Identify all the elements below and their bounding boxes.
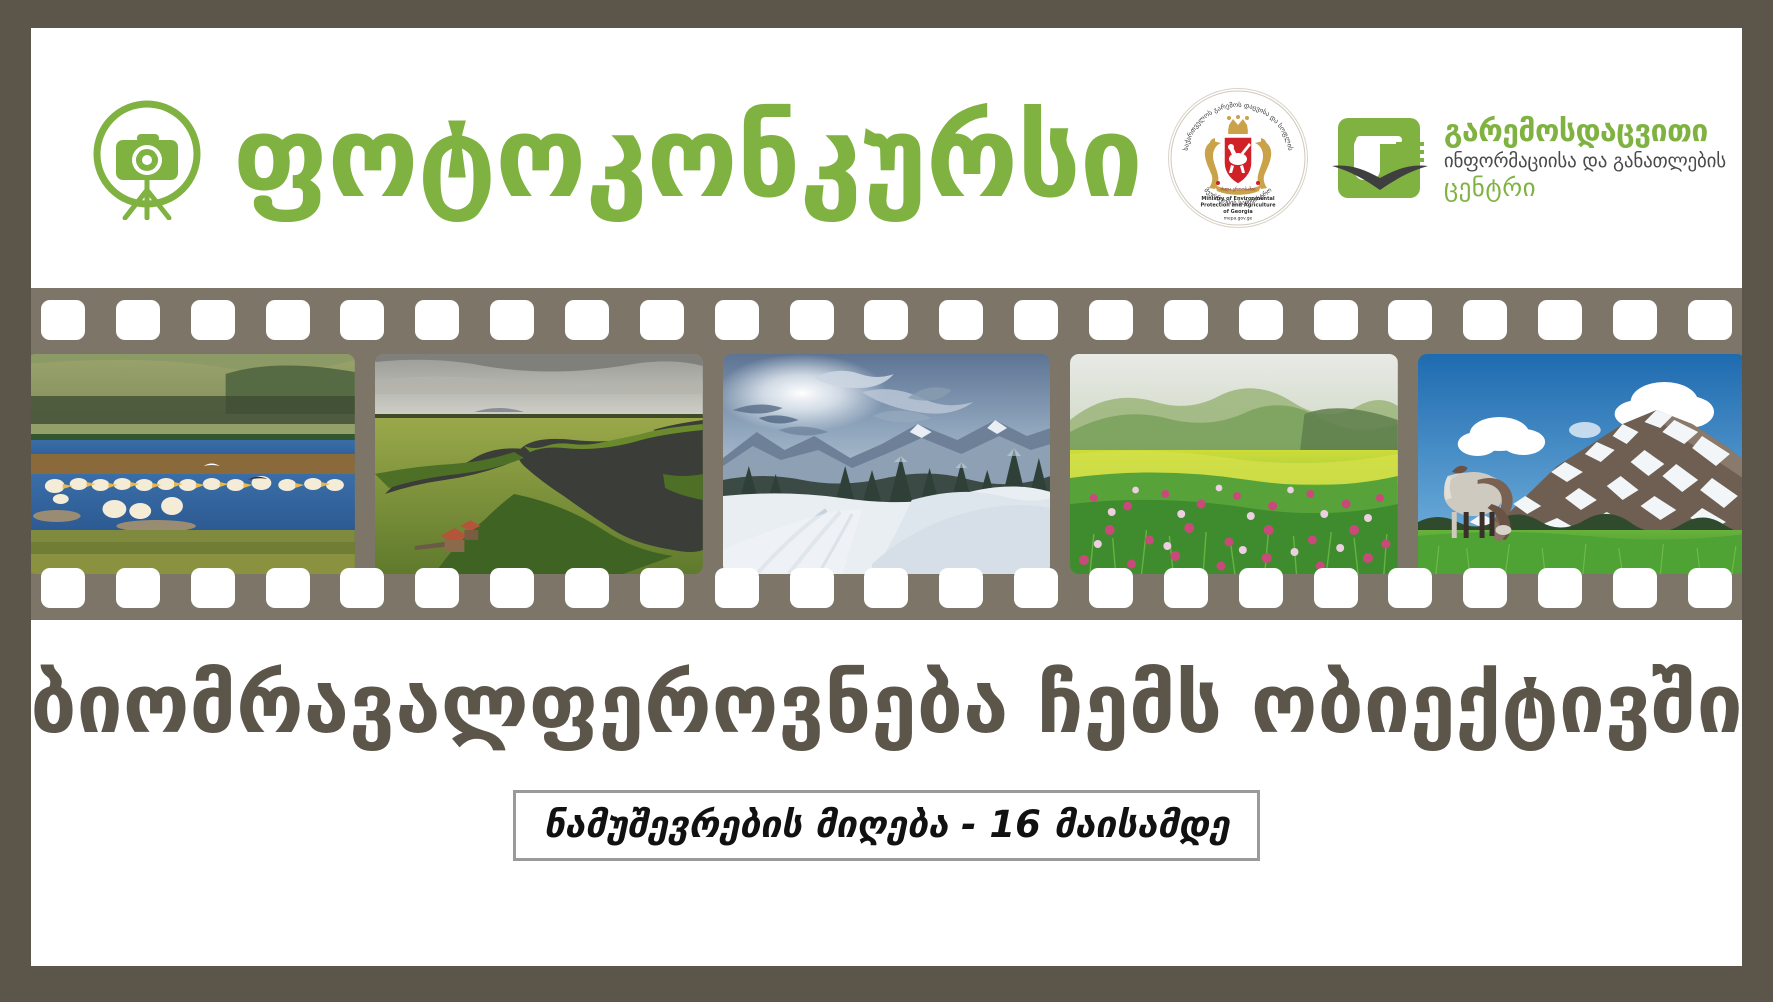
sprocket-hole: [864, 300, 908, 340]
sprocket-hole: [1014, 300, 1058, 340]
sprocket-hole: [640, 568, 684, 608]
sprocket-hole: [1688, 300, 1732, 340]
sprocket-hole: [1388, 568, 1432, 608]
sprocket-hole: [939, 568, 983, 608]
sprocket-hole: [1314, 300, 1358, 340]
svg-text:mepa.gov.ge: mepa.gov.ge: [1224, 217, 1253, 222]
sprocket-hole: [1538, 568, 1582, 608]
eic-line-3: ცენტრი: [1444, 175, 1726, 200]
eic-book-mark-icon: [1330, 106, 1434, 210]
sprocket-hole: [1613, 300, 1657, 340]
sprocket-hole: [490, 568, 534, 608]
sprocket-hole: [1164, 300, 1208, 340]
ministry-seal: საქართველოს გარემოს დაცვისა და სოფლის მე…: [1168, 88, 1308, 228]
sprocket-hole: [1239, 568, 1283, 608]
sprocket-hole: [565, 300, 609, 340]
poster-headline: ბიომრავალფეროვნება ჩემს ობიექტივში: [31, 664, 1742, 746]
sprocket-hole: [415, 300, 459, 340]
sprocket-hole: [116, 568, 160, 608]
sprocket-hole: [340, 300, 384, 340]
svg-text:Ministry of Environmental: Ministry of Environmental: [1201, 196, 1274, 202]
eic-logo-text: გარემოსდაცვითი ინფორმაციისა და განათლები…: [1444, 117, 1726, 200]
sprocket-row-top: [31, 300, 1742, 340]
logo-group: საქართველოს გარემოს დაცვისა და სოფლის მე…: [1168, 88, 1736, 228]
sprocket-hole: [1388, 300, 1432, 340]
photo-snowy-mountain-road: [723, 354, 1051, 574]
sprocket-hole: [640, 300, 684, 340]
sprocket-hole: [1089, 568, 1133, 608]
sprocket-hole: [116, 300, 160, 340]
poster-bottom: ბიომრავალფეროვნება ჩემს ობიექტივში ნამუშ…: [31, 620, 1742, 934]
photo-contest-poster: ფოტოკონკურსი საქართველოს გარემოს დაცვისა…: [0, 0, 1773, 1002]
sprocket-hole: [565, 568, 609, 608]
sprocket-hole: [1314, 568, 1358, 608]
svg-text:of Georgia: of Georgia: [1223, 209, 1252, 215]
sprocket-hole: [1463, 568, 1507, 608]
photo-pelicans-on-lake: [31, 354, 355, 574]
sprocket-hole: [191, 300, 235, 340]
sprocket-hole: [1164, 568, 1208, 608]
sprocket-hole: [1014, 568, 1058, 608]
sprocket-hole: [41, 568, 85, 608]
svg-text:ძალა ერთობაშია: ძალა ერთობაშია: [1220, 187, 1255, 192]
sprocket-hole: [415, 568, 459, 608]
photo-horse-and-mountain: [1418, 354, 1742, 574]
sprocket-hole: [1613, 568, 1657, 608]
poster-header: ფოტოკონკურსი საქართველოს გარემოს დაცვისა…: [31, 28, 1742, 288]
sprocket-hole: [1239, 300, 1283, 340]
sprocket-hole: [191, 568, 235, 608]
sprocket-hole: [1089, 300, 1133, 340]
eic-line-2: ინფორმაციისა და განათლების: [1444, 152, 1726, 171]
photo-alpine-meadow-flowers: [1070, 354, 1398, 574]
sprocket-hole: [715, 300, 759, 340]
deadline-box: ნამუშევრების მიღება - 16 მაისამდე: [513, 790, 1261, 861]
eic-logo: გარემოსდაცვითი ინფორმაციისა და განათლები…: [1330, 106, 1726, 210]
sprocket-hole: [41, 300, 85, 340]
sprocket-hole: [790, 300, 834, 340]
sprocket-hole: [864, 568, 908, 608]
eic-line-1: გარემოსდაცვითი: [1444, 117, 1726, 147]
sprocket-row-bottom: [31, 568, 1742, 608]
deadline-text: ნამუშევრების მიღება - 16 მაისამდე: [544, 803, 1230, 846]
svg-text:Protection and Agriculture: Protection and Agriculture: [1200, 203, 1276, 209]
sprocket-hole: [790, 568, 834, 608]
filmstrip: [31, 288, 1742, 620]
sprocket-hole: [266, 300, 310, 340]
sprocket-hole: [715, 568, 759, 608]
camera-tripod-icon: [85, 96, 209, 220]
sprocket-hole: [266, 568, 310, 608]
sprocket-hole: [490, 300, 534, 340]
photo-frames: [31, 354, 1742, 574]
sprocket-hole: [340, 568, 384, 608]
sprocket-hole: [939, 300, 983, 340]
contest-title: ფოტოკონკურსი: [233, 102, 1142, 214]
sprocket-hole: [1538, 300, 1582, 340]
poster-inner-canvas: ფოტოკონკურსი საქართველოს გარემოს დაცვისა…: [31, 28, 1742, 966]
photo-aerial-wetland-lake: [375, 354, 703, 574]
sprocket-hole: [1688, 568, 1732, 608]
sprocket-hole: [1463, 300, 1507, 340]
